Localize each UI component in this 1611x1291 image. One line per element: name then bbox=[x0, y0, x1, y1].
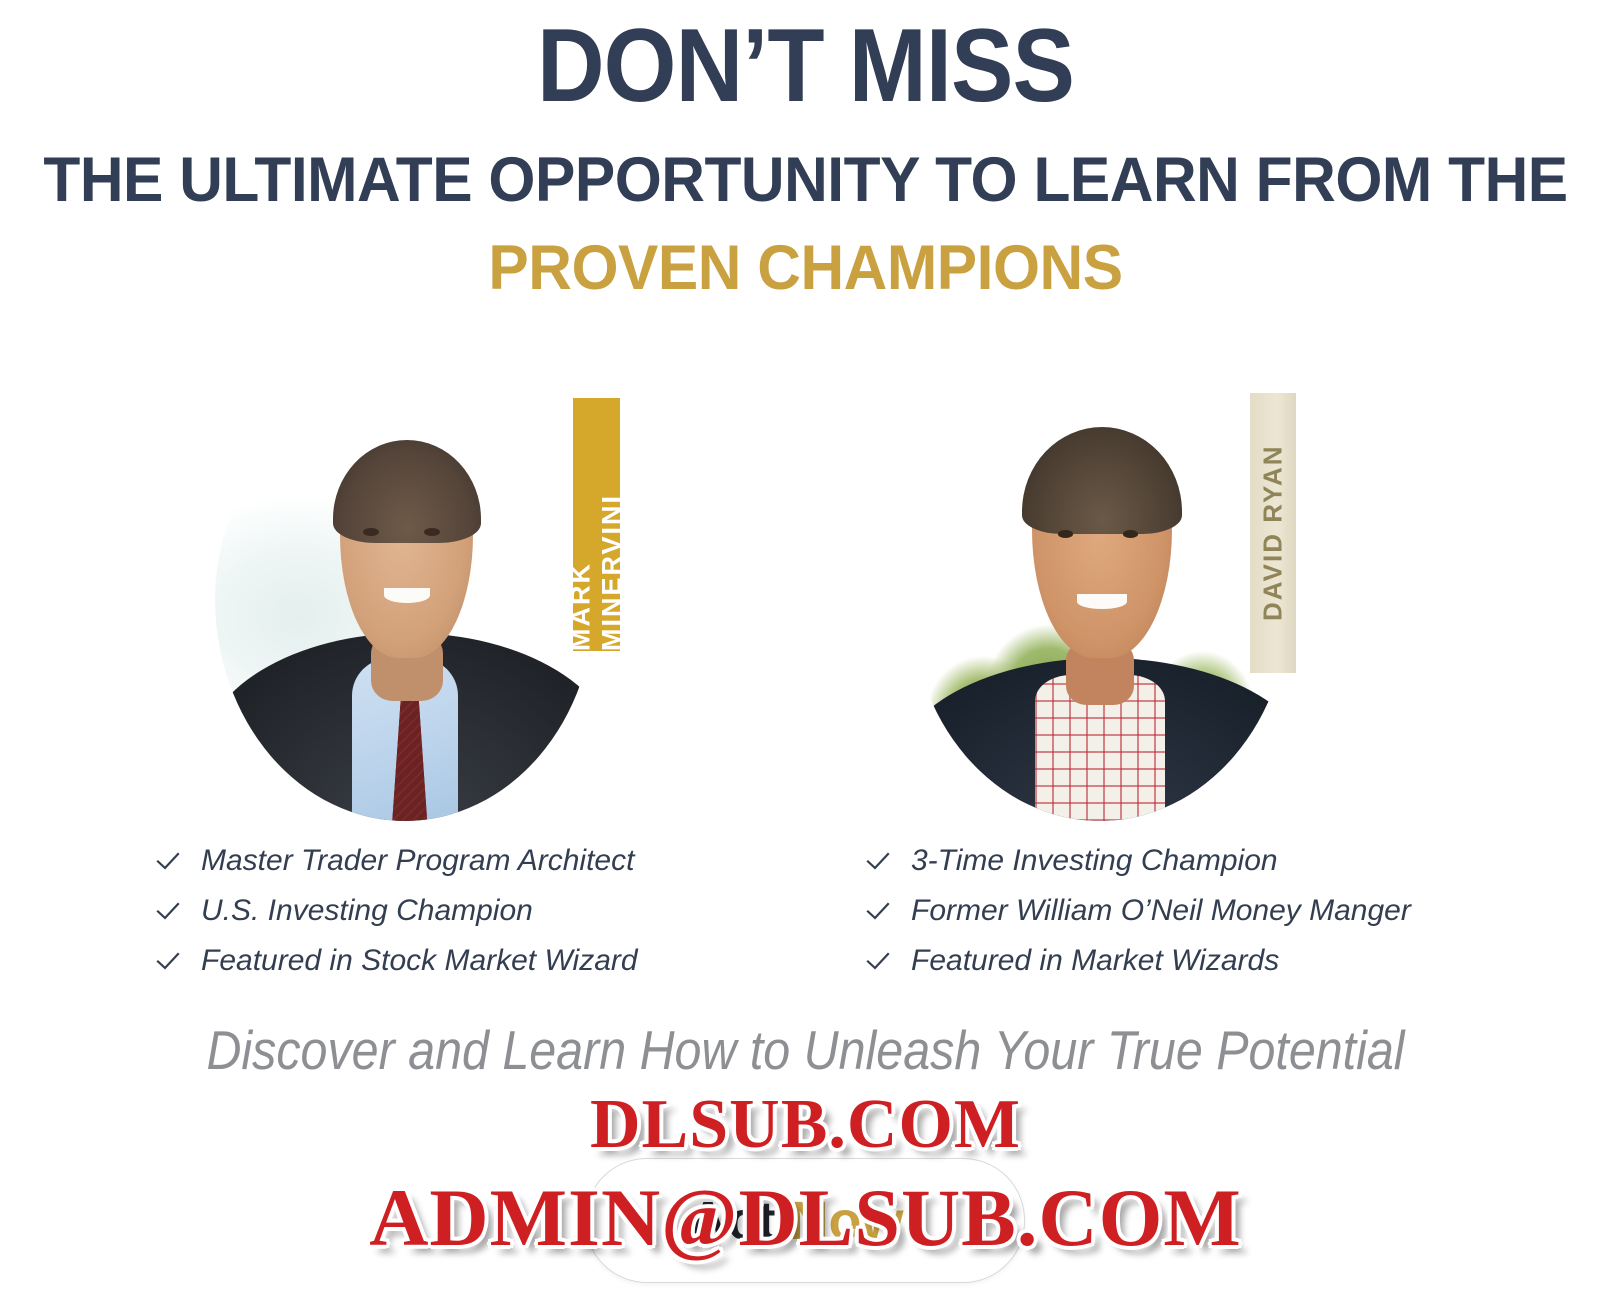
headline-block: DON’T MISS THE ULTIMATE OPPORTUNITY TO L… bbox=[0, 0, 1611, 304]
list-item-label: Featured in Market Wizards bbox=[911, 944, 1279, 978]
list-item-label: 3-Time Investing Champion bbox=[911, 844, 1278, 878]
list-item-label: Featured in Stock Market Wizard bbox=[201, 944, 638, 978]
speaker-name-banner-david-ryan: DAVID RYAN bbox=[1250, 393, 1296, 673]
list-item: U.S. Investing Champion bbox=[155, 890, 638, 932]
check-icon bbox=[155, 848, 181, 874]
list-item-label: Former William O’Neil Money Manger bbox=[911, 894, 1411, 928]
list-item-label: Master Trader Program Architect bbox=[201, 844, 634, 878]
portrait-eye-left bbox=[363, 528, 379, 536]
list-item: Featured in Stock Market Wizard bbox=[155, 940, 638, 982]
check-icon bbox=[155, 898, 181, 924]
check-icon bbox=[865, 848, 891, 874]
portrait-eye-left bbox=[1058, 530, 1073, 538]
speaker-card-mark-minervini: MARK MINERVINI bbox=[160, 385, 620, 830]
credentials-list-mark-minervini: Master Trader Program Architect U.S. Inv… bbox=[155, 840, 638, 990]
portrait-eye-right bbox=[424, 528, 440, 536]
watermark-site: DLSUB.COM bbox=[0, 1088, 1611, 1162]
speakers-row: MARK MINERVINI DAVID RYAN bbox=[0, 385, 1611, 830]
list-item: Master Trader Program Architect bbox=[155, 840, 638, 882]
check-icon bbox=[155, 948, 181, 974]
tagline: Discover and Learn How to Unleash Your T… bbox=[97, 1018, 1515, 1082]
portrait-smile bbox=[384, 588, 430, 603]
headline-line-1: DON’T MISS bbox=[81, 10, 1531, 122]
headline-line-3: PROVEN CHAMPIONS bbox=[32, 232, 1579, 304]
portrait-photo-david-ryan bbox=[910, 393, 1290, 821]
headline-line-2: THE ULTIMATE OPPORTUNITY TO LEARN FROM T… bbox=[32, 144, 1579, 216]
check-icon bbox=[865, 948, 891, 974]
list-item-label: U.S. Investing Champion bbox=[201, 894, 533, 928]
portrait-photo-mark-minervini bbox=[215, 393, 595, 821]
list-item: Former William O’Neil Money Manger bbox=[865, 890, 1411, 932]
speaker-name-banner-mark-minervini: MARK MINERVINI bbox=[573, 398, 620, 651]
watermark-email: ADMIN@DLSUB.COM bbox=[0, 1174, 1611, 1262]
check-icon bbox=[865, 898, 891, 924]
speaker-credentials: Master Trader Program Architect U.S. Inv… bbox=[0, 840, 1611, 980]
list-item: Featured in Market Wizards bbox=[865, 940, 1411, 982]
portrait-eye-right bbox=[1123, 530, 1138, 538]
speaker-card-david-ryan: DAVID RYAN bbox=[855, 385, 1315, 830]
list-item: 3-Time Investing Champion bbox=[865, 840, 1411, 882]
credentials-list-david-ryan: 3-Time Investing Champion Former William… bbox=[865, 840, 1411, 990]
portrait-smile bbox=[1077, 594, 1126, 609]
